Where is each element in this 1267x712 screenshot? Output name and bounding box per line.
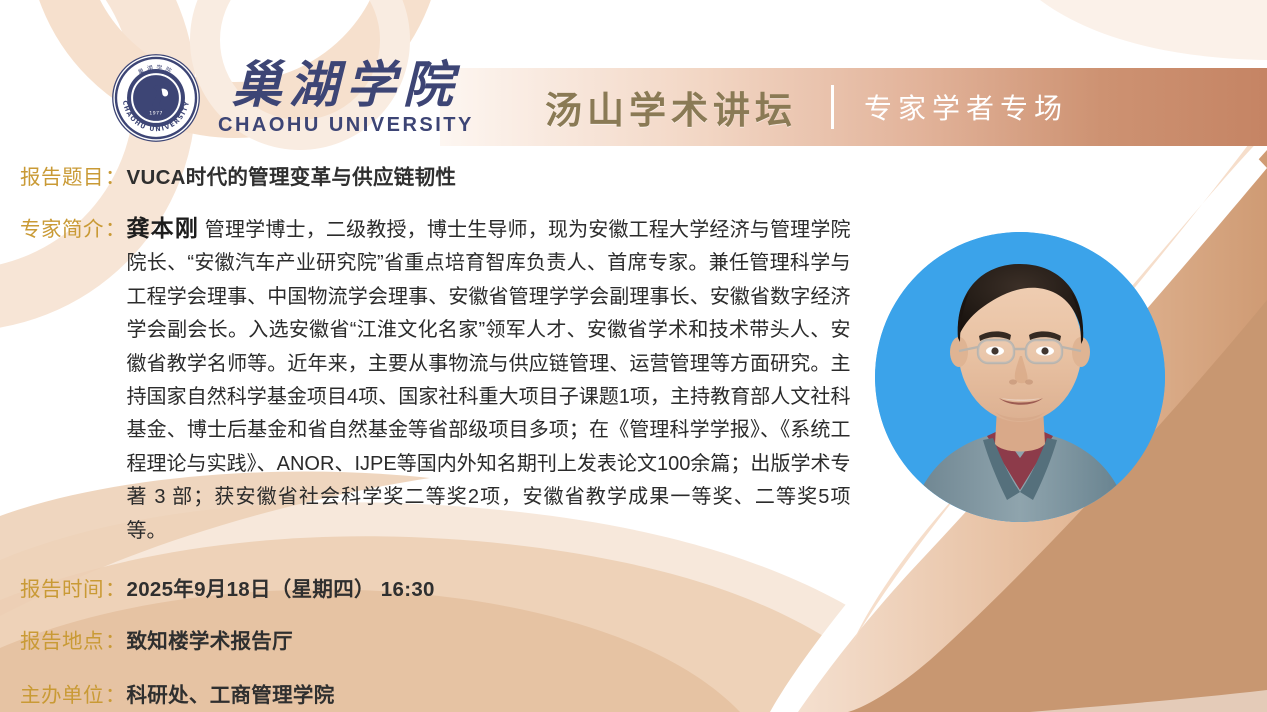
- biography-text: 管理学博士，二级教授，博士生导师，现为安徽工程大学经济与管理学院院长、“安徽汽车…: [127, 219, 851, 542]
- speaker-portrait: [875, 232, 1165, 522]
- time-label: 报告时间: [20, 572, 104, 602]
- colon-separator: ：: [105, 678, 126, 708]
- place-label: 报告地点: [20, 624, 104, 654]
- organizer-row: 主办单位 ： 科研处、工商管理学院: [20, 678, 335, 708]
- speaker-portrait-photo: [875, 232, 1165, 522]
- place-row: 报告地点 ： 致知楼学术报告厅: [20, 624, 293, 654]
- poster-canvas: 汤山学术讲坛 专家学者专场: [0, 0, 1267, 712]
- topic-row: 报告题目 ： VUCA时代的管理变革与供应链韧性: [20, 160, 456, 190]
- colon-separator: ：: [105, 212, 126, 242]
- speaker-name: 龚本刚: [127, 215, 200, 241]
- topic-value: VUCA时代的管理变革与供应链韧性: [127, 160, 457, 190]
- topic-label: 报告题目: [20, 160, 104, 190]
- time-value: 2025年9月18日（星期四） 16:30: [127, 572, 435, 602]
- colon-separator: ：: [105, 572, 126, 602]
- organizer-label: 主办单位: [20, 678, 104, 708]
- time-row: 报告时间 ： 2025年9月18日（星期四） 16:30: [20, 572, 435, 602]
- colon-separator: ：: [105, 624, 126, 654]
- biography-label: 专家简介: [20, 212, 104, 242]
- colon-separator: ：: [105, 160, 126, 190]
- place-value: 致知楼学术报告厅: [127, 624, 293, 654]
- biography-row: 专家简介 ： 龚本刚 管理学博士，二级教授，博士生导师，现为安徽工程大学经济与管…: [20, 212, 851, 548]
- biography-body: 龚本刚 管理学博士，二级教授，博士生导师，现为安徽工程大学经济与管理学院院长、“…: [127, 212, 851, 548]
- organizer-value: 科研处、工商管理学院: [127, 678, 335, 708]
